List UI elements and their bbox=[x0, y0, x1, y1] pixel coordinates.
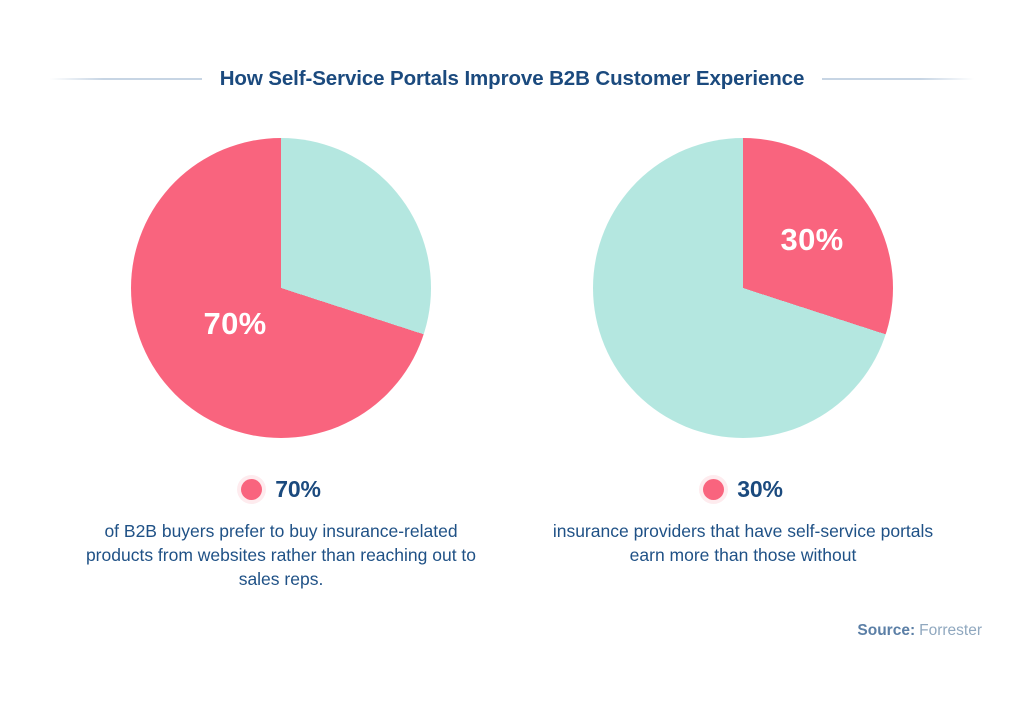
legend-value-left: 70% bbox=[275, 476, 320, 503]
pie-chart-left bbox=[131, 138, 431, 438]
title-rule-left bbox=[50, 78, 202, 80]
source-label: Source: bbox=[857, 622, 915, 639]
title-row: How Self-Service Portals Improve B2B Cus… bbox=[0, 62, 1024, 96]
caption-right: insurance providers that have self-servi… bbox=[533, 519, 953, 567]
pie-slice-label-left: 70% bbox=[204, 306, 267, 342]
source-name: Forrester bbox=[919, 622, 982, 639]
legend-right: 30% bbox=[533, 476, 953, 503]
title-rule-right bbox=[822, 78, 974, 80]
caption-left: of B2B buyers prefer to buy insurance-re… bbox=[71, 519, 491, 591]
legend-value-right: 30% bbox=[737, 476, 782, 503]
infographic-canvas: How Self-Service Portals Improve B2B Cus… bbox=[0, 0, 1024, 711]
pie-chart-right bbox=[593, 138, 893, 438]
pink-dot-icon bbox=[703, 479, 724, 500]
source-attribution: Source:Forrester bbox=[857, 622, 982, 640]
pie-slice-label-right: 30% bbox=[781, 222, 844, 258]
page-title: How Self-Service Portals Improve B2B Cus… bbox=[220, 67, 805, 91]
legend-left: 70% bbox=[71, 476, 491, 503]
pink-dot-icon bbox=[241, 479, 262, 500]
